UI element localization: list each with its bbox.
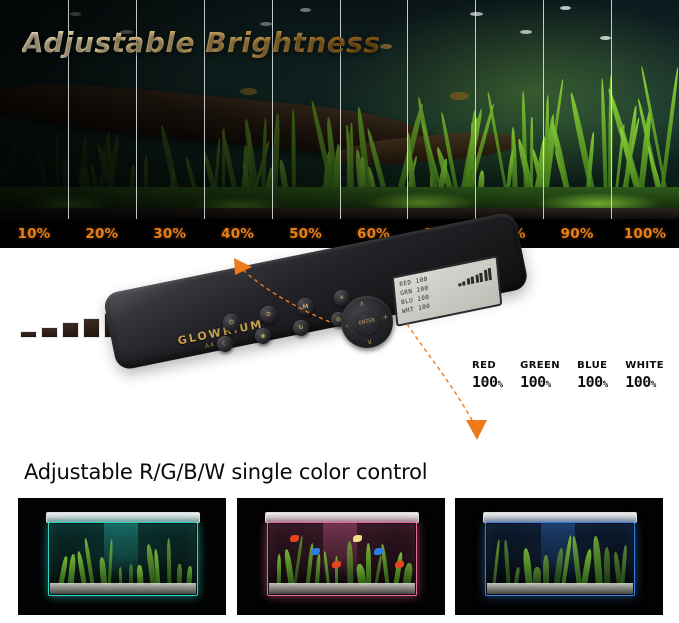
rgbw-value-white: 100% — [625, 373, 664, 391]
rgbw-channel-blue: BLUE 100% — [577, 360, 608, 404]
tank-cyan — [18, 498, 226, 615]
tank-magenta — [237, 498, 445, 615]
plant-blade — [600, 78, 608, 199]
tank-fish — [311, 548, 320, 555]
color-callout-arrowhead — [466, 420, 487, 440]
mode-icon: M — [296, 301, 314, 311]
lcd-bar-segment — [475, 274, 479, 283]
step-bar — [83, 318, 100, 338]
aquarium-plant — [177, 564, 182, 585]
power-icon: ⏻ — [222, 317, 240, 328]
step-bar — [20, 331, 37, 338]
brightness-level-label: 20% — [68, 219, 136, 248]
fish — [600, 36, 611, 40]
aquarium-plant — [277, 554, 282, 585]
fish — [70, 12, 81, 16]
rgbw-channel-green: GREEN 100% — [520, 360, 560, 404]
brightness-level-label: 30% — [136, 219, 204, 248]
gravel-substrate — [269, 583, 415, 594]
tank-glass — [267, 522, 417, 596]
tank-fish — [395, 561, 404, 568]
tank-fish — [332, 561, 341, 568]
dpad-up-icon[interactable]: ∧ — [358, 299, 365, 308]
color-icon: ◉ — [254, 331, 271, 341]
tank-photo-row — [18, 498, 663, 615]
tank-glass — [485, 522, 635, 596]
dpad-down-icon[interactable]: ∨ — [366, 337, 373, 346]
fish — [520, 30, 532, 34]
fish — [560, 6, 571, 10]
rgbw-channel-red: RED 100% — [472, 360, 503, 404]
gravel-substrate — [50, 583, 196, 594]
lcd-bar-segment — [471, 277, 475, 284]
step-bar — [62, 322, 79, 338]
brightness-icon: ☀ — [333, 293, 350, 303]
tank-blue — [455, 498, 663, 615]
brightness-divider — [475, 0, 476, 219]
dpad-right-icon[interactable]: + — [382, 313, 389, 322]
rgbw-label-blue: BLUE — [577, 360, 608, 371]
aquarium-plant — [543, 555, 549, 585]
fish — [300, 8, 311, 12]
rgbw-label-white: WHITE — [625, 360, 664, 371]
rgbw-label-red: RED — [472, 360, 503, 371]
rgbw-readout: RED 100% GREEN 100% BLUE 100% WHITE 100% — [472, 360, 664, 404]
brightness-divider — [407, 0, 408, 219]
brightness-level-label: 10% — [0, 219, 68, 248]
rgbw-label-green: GREEN — [520, 360, 560, 371]
fish — [470, 12, 483, 16]
lcd-bar-segment — [488, 268, 492, 281]
lcd-bar-segment — [483, 270, 487, 281]
rgbw-value-blue: 100% — [577, 373, 608, 391]
brightness-label-strip: 10%20%30%40%50%60%70%80%90%100% — [0, 219, 679, 248]
fish — [450, 92, 469, 100]
lcd-bar-segment — [458, 283, 461, 287]
brightness-level-label: 50% — [272, 219, 340, 248]
color-control-section: Adjustable R/G/B/W single color control — [0, 456, 679, 623]
gravel-substrate — [487, 583, 633, 594]
brightness-level-label: 40% — [204, 219, 272, 248]
brightness-banner: 10%20%30%40%50%60%70%80%90%100% Adjustab… — [0, 0, 679, 248]
rgbw-value-green: 100% — [520, 373, 560, 391]
brightness-divider — [543, 0, 544, 219]
lcd-bar-segment — [479, 272, 483, 282]
brightness-level-label: 100% — [611, 219, 679, 248]
brightness-divider — [611, 0, 612, 219]
fish — [380, 44, 392, 49]
timer-icon: ⏱ — [259, 309, 277, 320]
tank-glass — [48, 522, 198, 596]
tank-fish — [290, 535, 299, 542]
lcd-bar-segment — [466, 279, 469, 285]
fish — [240, 88, 257, 95]
rgbw-value-red: 100% — [472, 373, 503, 391]
lcd-bar-segment — [462, 281, 465, 286]
brightness-level-label: 90% — [543, 219, 611, 248]
memory-icon: ↻ — [292, 323, 309, 333]
step-bar — [41, 327, 58, 338]
tank-fish — [353, 535, 362, 542]
section-heading: Adjustable R/G/B/W single color control — [24, 460, 427, 484]
dpad-enter-button[interactable]: ENTER — [352, 307, 383, 338]
page-title: Adjustable Brightness — [22, 26, 381, 59]
remote-control-section: GLOWRIUM A4 RED 100 GRN 100 BLU 100 WHT … — [0, 248, 679, 456]
moon-icon: ☾ — [216, 339, 233, 349]
dpad-left-icon[interactable]: ‹ — [345, 322, 349, 330]
lcd-level-bars — [457, 266, 492, 287]
tank-fish — [374, 548, 383, 555]
rgbw-channel-white: WHITE 100% — [625, 360, 664, 404]
